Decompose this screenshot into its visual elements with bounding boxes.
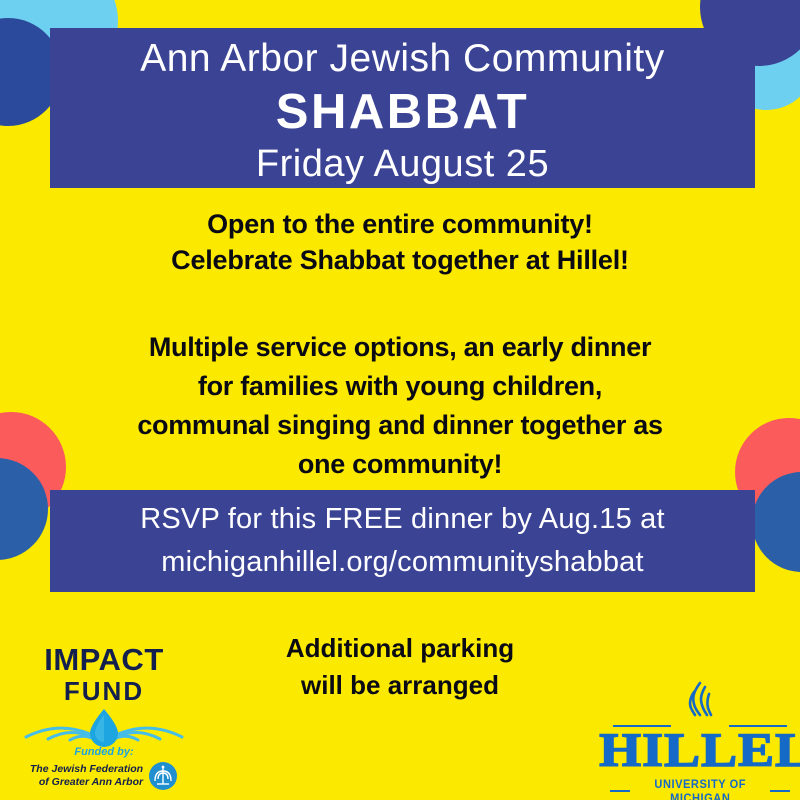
impact-fund-funded-by-label: Funded by:	[14, 746, 194, 759]
impact-fund-logo: IMPACT FUND Funded	[14, 644, 194, 791]
details-line-2: for families with young children,	[0, 367, 800, 406]
flame-icon	[676, 678, 724, 720]
hillel-subtitle: UNIVERSITY OF MICHIGAN	[641, 777, 759, 800]
details-line-4: one community!	[0, 445, 800, 484]
shabbat-flyer-poster: Ann Arbor Jewish Community SHABBAT Frida…	[0, 0, 800, 800]
header-banner: Ann Arbor Jewish Community SHABBAT Frida…	[50, 28, 755, 188]
impact-fund-drop-and-ripples	[14, 707, 194, 745]
water-drop-icon	[14, 707, 194, 747]
intro-text-block: Open to the entire community! Celebrate …	[0, 206, 800, 278]
hillel-subtitle-rule-right	[770, 790, 790, 792]
impact-fund-federation-text: The Jewish Federation of Greater Ann Arb…	[30, 763, 143, 789]
header-event-date: Friday August 25	[50, 140, 755, 188]
federation-line-2: of Greater Ann Arbor	[30, 776, 143, 789]
details-line-1: Multiple service options, an early dinne…	[0, 328, 800, 367]
details-line-3: communal singing and dinner together as	[0, 406, 800, 445]
intro-line-1: Open to the entire community!	[0, 206, 800, 242]
circle-mid-right-blue-decoration	[752, 472, 800, 572]
hillel-subtitle-rule-left	[610, 790, 630, 792]
impact-fund-federation-row: The Jewish Federation of Greater Ann Arb…	[14, 761, 194, 791]
hillel-subtitle-row: UNIVERSITY OF MICHIGAN	[610, 777, 790, 800]
details-text-block: Multiple service options, an early dinne…	[0, 328, 800, 484]
impact-fund-word-impact: IMPACT	[14, 644, 194, 676]
rsvp-instruction-line: RSVP for this FREE dinner by Aug.15 at	[140, 498, 665, 541]
header-organization-line: Ann Arbor Jewish Community	[50, 34, 755, 84]
hillel-wordmark: HILLEL	[599, 727, 800, 775]
header-event-title: SHABBAT	[50, 84, 755, 140]
hillel-logo: HILLEL UNIVERSITY OF MICHIGAN	[610, 678, 790, 800]
federation-line-1: The Jewish Federation	[30, 763, 143, 776]
intro-line-2: Celebrate Shabbat together at Hillel!	[0, 242, 800, 278]
rsvp-banner[interactable]: RSVP for this FREE dinner by Aug.15 at m…	[50, 490, 755, 592]
rsvp-url-link[interactable]: michiganhillel.org/communityshabbat	[161, 541, 644, 584]
menorah-emblem-icon	[148, 761, 178, 791]
impact-fund-word-fund: FUND	[14, 677, 194, 705]
